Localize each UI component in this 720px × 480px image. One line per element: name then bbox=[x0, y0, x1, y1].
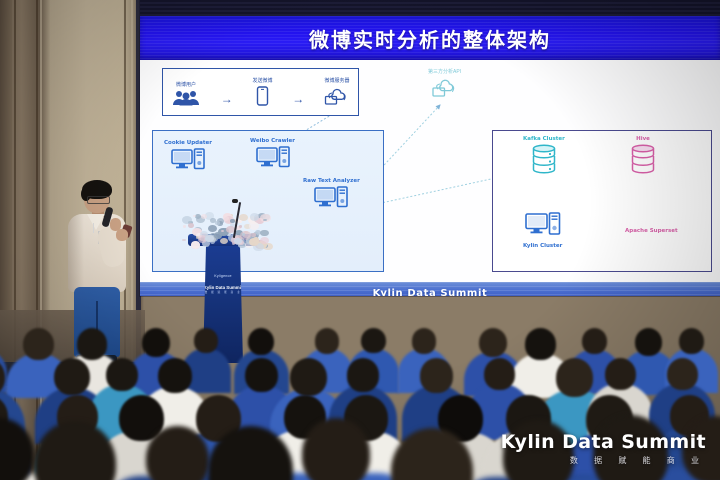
node-label: Hive bbox=[636, 136, 650, 142]
node-label: Kafka Cluster bbox=[523, 136, 565, 142]
desktop-tower-icon bbox=[171, 148, 205, 175]
flow-step-weibo-users: 微博用户 bbox=[171, 81, 201, 111]
flow-step-label: 微博服务器 bbox=[324, 77, 349, 84]
node-label: Weibo Crawler bbox=[250, 138, 295, 144]
flow-arrow-icon: → bbox=[221, 93, 233, 111]
node-label: Cookie Updater bbox=[164, 140, 212, 146]
users-icon bbox=[171, 90, 201, 111]
slide-title-band: 微博实时分析的整体架构 bbox=[140, 16, 720, 60]
third-party-api-label: 第三方分析API bbox=[428, 68, 461, 75]
screen-brand-title: Kylin Data Summit bbox=[140, 288, 720, 296]
podium-microphone bbox=[232, 199, 238, 203]
watermark-title: Kylin Data Summit bbox=[501, 431, 706, 453]
flower-arrangement bbox=[182, 206, 268, 248]
desktop-tower-icon bbox=[314, 186, 348, 213]
node-hive: Hive bbox=[630, 136, 656, 179]
slide-title: 微博实时分析的整体架构 bbox=[309, 24, 551, 53]
flow-step-send-weibo: 发送微博 bbox=[252, 77, 272, 111]
database-stack-icon bbox=[531, 144, 557, 179]
node-kylin-cluster: Kylin Cluster bbox=[523, 212, 562, 249]
flow-step-label: 微博用户 bbox=[176, 81, 196, 88]
third-party-api-node: 第三方分析API bbox=[428, 68, 461, 104]
node-raw-text-analyzer: Raw Text Analyzer bbox=[303, 178, 360, 213]
node-label: Raw Text Analyzer bbox=[303, 178, 360, 184]
watermark-subtitle: 数 据 赋 能 商 业 bbox=[501, 455, 706, 466]
flow-arrow-icon: → bbox=[292, 93, 304, 111]
eyeglasses bbox=[87, 196, 110, 204]
node-label: Kylin Cluster bbox=[523, 243, 562, 249]
database-stack-icon bbox=[630, 144, 656, 179]
screen-brand: Kylin Data Summit 数 据 赋 能 商 业 bbox=[140, 288, 720, 296]
node-cookie-updater: Cookie Updater bbox=[164, 140, 212, 175]
node-kafka-cluster: Kafka Cluster bbox=[523, 136, 565, 179]
smartphone-icon bbox=[256, 86, 269, 111]
flow-step-weibo-server: 微博服务器 bbox=[324, 77, 350, 111]
cloud-server-icon bbox=[431, 77, 459, 104]
flow-step-label: 发送微博 bbox=[252, 77, 272, 84]
cloud-server-icon bbox=[324, 86, 350, 111]
watermark: Kylin Data Summit 数 据 赋 能 商 业 bbox=[501, 431, 706, 466]
node-apache-superset: Apache Superset bbox=[625, 228, 678, 234]
node-label: Apache Superset bbox=[625, 228, 678, 234]
podium-logo-top: Kyligence bbox=[203, 274, 243, 278]
source-flow-box: 微博用户 → 发送微博 bbox=[162, 68, 359, 116]
screen-top-edge bbox=[140, 0, 720, 16]
desktop-tower-icon bbox=[256, 146, 290, 173]
node-weibo-crawler: Weibo Crawler bbox=[250, 138, 295, 173]
desktop-tower-icon bbox=[525, 212, 561, 241]
screenshot-root: 微博实时分析的整体架构 bbox=[0, 0, 720, 480]
